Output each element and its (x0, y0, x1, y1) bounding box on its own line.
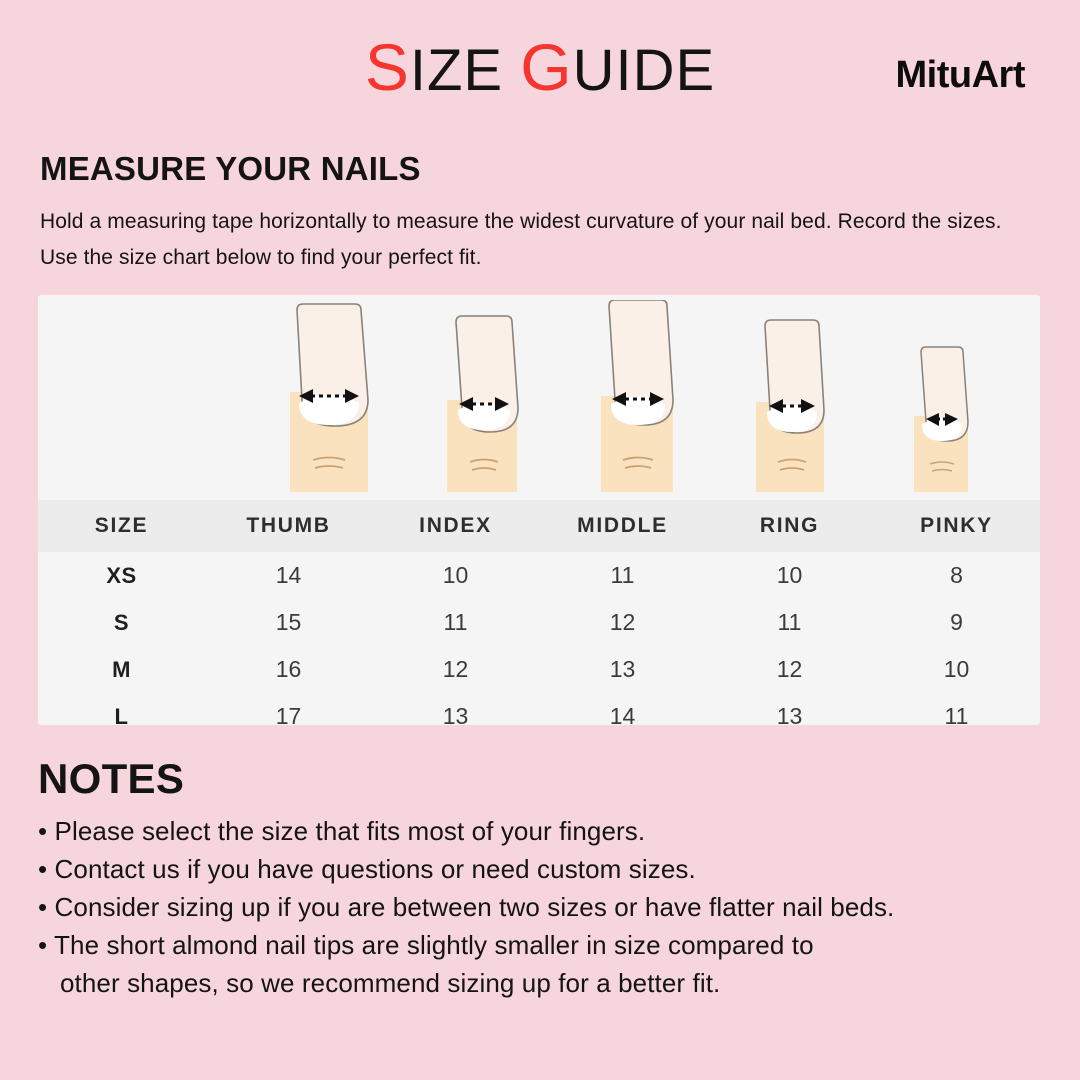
cell-size: L (38, 693, 205, 740)
cell-pinky: 8 (873, 552, 1040, 599)
title-part-2: G (520, 30, 572, 104)
cell-thumb: 15 (205, 599, 372, 646)
cell-size: XS (38, 552, 205, 599)
note-item: • Please select the size that fits most … (38, 813, 1048, 851)
column-header-size: SIZE (38, 500, 205, 552)
column-header-index: INDEX (372, 500, 539, 552)
thumb-nail-illustration (251, 300, 407, 500)
cell-middle: 11 (539, 552, 706, 599)
cell-ring: 11 (706, 599, 873, 646)
measure-heading: MEASURE YOUR NAILS (40, 150, 1040, 188)
table-row: XS 14 10 11 10 8 (38, 552, 1040, 599)
index-nail-svg (408, 310, 558, 500)
title-part-0: S (365, 30, 410, 104)
cell-thumb: 17 (205, 693, 372, 740)
notes-list: • Please select the size that fits most … (38, 813, 1048, 1003)
ring-nail-illustration (716, 312, 864, 500)
cell-middle: 12 (539, 599, 706, 646)
table-header-row: SIZE THUMB INDEX MIDDLE RING PINKY (38, 500, 1040, 552)
page-header: SIZE GUIDE MituArt (0, 0, 1080, 128)
notes-heading: NOTES (38, 755, 1048, 803)
note-item: • Contact us if you have questions or ne… (38, 851, 1048, 889)
notes-section: NOTES • Please select the size that fits… (38, 755, 1048, 1003)
pinky-nail-svg (876, 340, 1006, 500)
middle-nail-svg (561, 300, 713, 500)
cell-ring: 10 (706, 552, 873, 599)
cell-ring: 12 (706, 646, 873, 693)
brand-logo: MituArt (896, 54, 1025, 97)
cell-size: S (38, 599, 205, 646)
cell-index: 12 (372, 646, 539, 693)
column-header-pinky: PINKY (873, 500, 1040, 552)
column-header-thumb: THUMB (205, 500, 372, 552)
title-part-3: UIDE (573, 38, 716, 103)
table-row: S 15 11 12 11 9 (38, 599, 1040, 646)
index-nail-illustration (408, 310, 558, 500)
size-chart-panel: SIZE THUMB INDEX MIDDLE RING PINKY XS 14… (38, 295, 1040, 725)
column-header-ring: RING (706, 500, 873, 552)
table-row: M 16 12 13 12 10 (38, 646, 1040, 693)
column-header-middle: MIDDLE (539, 500, 706, 552)
cell-ring: 13 (706, 693, 873, 740)
cell-size: M (38, 646, 205, 693)
cell-index: 11 (372, 599, 539, 646)
cell-middle: 13 (539, 646, 706, 693)
cell-pinky: 10 (873, 646, 1040, 693)
note-item: • The short almond nail tips are slightl… (38, 927, 1048, 1003)
cell-pinky: 11 (873, 693, 1040, 740)
ring-nail-svg (716, 312, 864, 500)
cell-index: 10 (372, 552, 539, 599)
cell-middle: 14 (539, 693, 706, 740)
measure-paragraph: Hold a measuring tape horizontally to me… (40, 204, 1040, 276)
measure-section: MEASURE YOUR NAILS Hold a measuring tape… (0, 150, 1080, 276)
size-chart-table: SIZE THUMB INDEX MIDDLE RING PINKY XS 14… (38, 500, 1040, 740)
middle-nail-illustration (561, 300, 713, 500)
nail-diagram-row (38, 295, 1040, 500)
cell-thumb: 14 (205, 552, 372, 599)
cell-index: 13 (372, 693, 539, 740)
pinky-nail-illustration (876, 340, 1006, 500)
title-part-1: IZE (410, 38, 520, 103)
table-row: L 17 13 14 13 11 (38, 693, 1040, 740)
thumb-nail-svg (251, 300, 407, 500)
note-item: • Consider sizing up if you are between … (38, 889, 1048, 927)
cell-thumb: 16 (205, 646, 372, 693)
cell-pinky: 9 (873, 599, 1040, 646)
